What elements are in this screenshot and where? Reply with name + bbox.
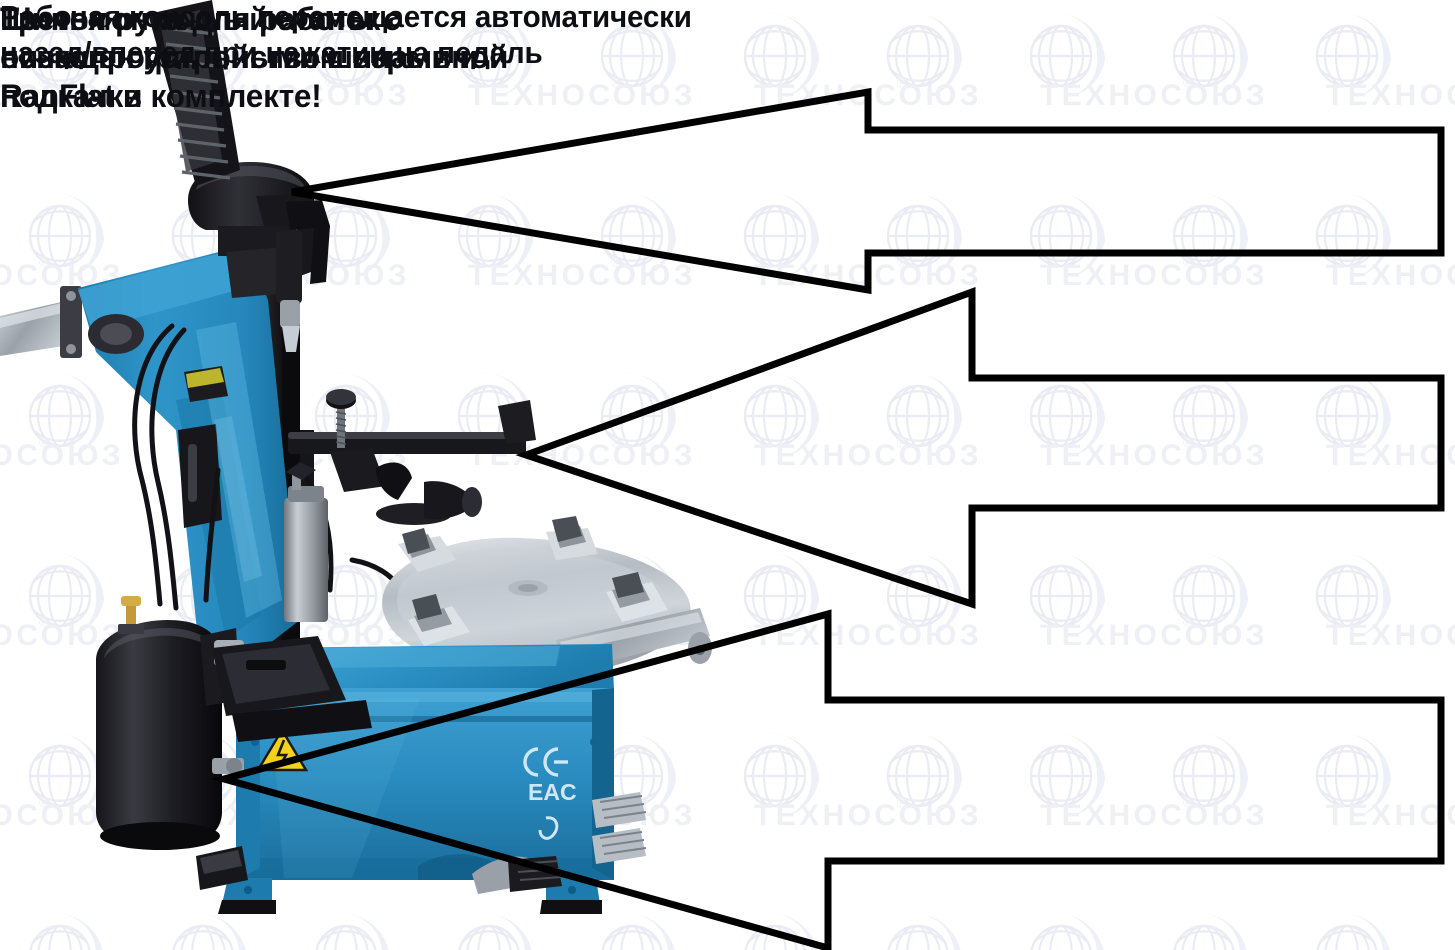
callout-1-bracket: [292, 92, 1441, 290]
callout-2-bracket: [526, 292, 1441, 604]
illustration-canvas: ТЕХНОСОЮЗ ® ТЕХНОСОЮЗ ®: [0, 0, 1455, 950]
callout-3-bracket: [224, 614, 1441, 948]
callout-lines-layer: [0, 0, 1455, 950]
callout-3-text: Шиномонтажный станок оснащен устройством…: [0, 0, 631, 115]
